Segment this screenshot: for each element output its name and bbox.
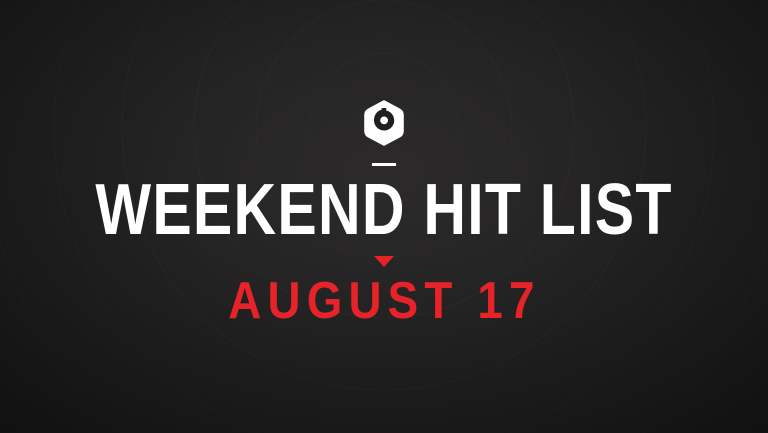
banner-content: WEEKEND HIT LIST AUGUST 17 [0, 0, 768, 433]
promo-banner: WEEKEND HIT LIST AUGUST 17 [0, 0, 768, 433]
title-divider [372, 163, 396, 166]
beats-logo [361, 100, 407, 146]
banner-date: AUGUST 17 [228, 279, 540, 324]
red-caret-separator [374, 256, 394, 267]
page-title: WEEKEND HIT LIST [95, 182, 672, 240]
